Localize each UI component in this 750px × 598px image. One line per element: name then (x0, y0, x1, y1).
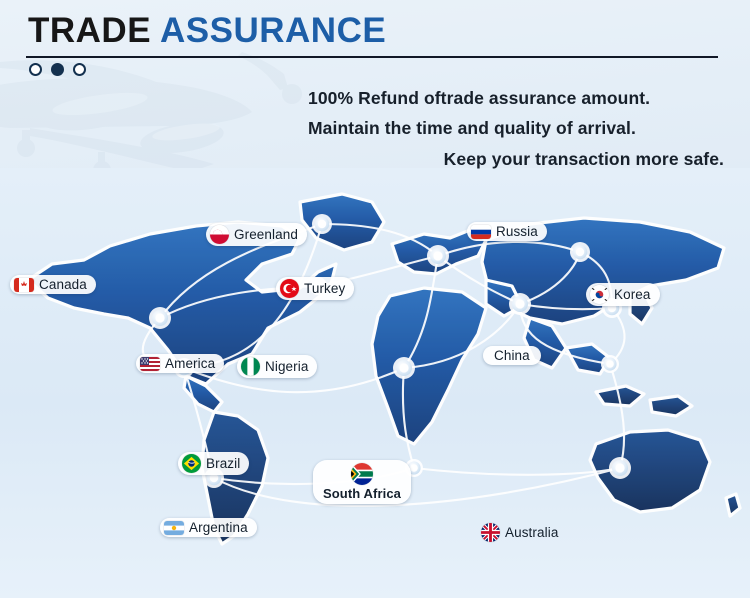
carousel-dot-2-active[interactable] (51, 63, 64, 76)
map-label-argentina-text: Argentina (189, 520, 248, 535)
map-label-america[interactable]: America (136, 354, 224, 373)
map-label-brazil[interactable]: Brazil (178, 452, 249, 475)
greenland-flag-icon (210, 225, 229, 244)
map-label-china[interactable]: China (483, 346, 541, 365)
australia-flag-icon (481, 523, 500, 542)
map-label-nigeria[interactable]: Nigeria (237, 355, 317, 378)
argentina-flag-icon (164, 521, 184, 535)
map-label-russia-text: Russia (496, 224, 538, 239)
south-africa-flag-icon (351, 463, 373, 485)
title-word-trade: TRADE (28, 11, 151, 50)
nigeria-flag-icon (241, 357, 260, 376)
map-label-south-africa[interactable]: South Africa (313, 460, 411, 504)
carousel-dot-1[interactable] (29, 63, 42, 76)
carousel-dots[interactable] (29, 63, 86, 76)
trade-assurance-banner: TRADE ASSURANCE 100% Refund oftrade assu… (0, 0, 750, 598)
russia-flag-icon (471, 225, 491, 239)
map-label-argentina[interactable]: Argentina (160, 518, 257, 537)
map-label-china-text: China (494, 348, 530, 363)
map-label-greenland[interactable]: Greenland (206, 223, 307, 246)
korea-flag-icon (590, 285, 609, 304)
map-label-greenland-text: Greenland (234, 227, 298, 242)
banner-header: TRADE ASSURANCE (0, 0, 750, 92)
map-label-australia-text: Australia (505, 525, 558, 540)
headline-line-3: Keep your transaction more safe. (306, 149, 726, 170)
map-label-canada[interactable]: Canada (10, 275, 96, 294)
usa-flag-icon (140, 357, 160, 371)
map-label-russia[interactable]: Russia (467, 222, 547, 241)
turkey-flag-icon (280, 279, 299, 298)
title-underline (26, 56, 718, 58)
map-label-america-text: America (165, 356, 215, 371)
headline-line-1: 100% Refund oftrade assurance amount. (306, 88, 726, 109)
map-label-australia[interactable]: Australia (477, 521, 567, 544)
brazil-flag-icon (182, 454, 201, 473)
carousel-dot-3[interactable] (73, 63, 86, 76)
map-label-south-africa-text: South Africa (323, 486, 401, 501)
headline-block: 100% Refund oftrade assurance amount. Ma… (306, 88, 726, 179)
map-label-brazil-text: Brazil (206, 456, 240, 471)
headline-line-2: Maintain the time and quality of arrival… (306, 118, 726, 139)
page-title: TRADE ASSURANCE (28, 13, 386, 48)
map-label-canada-text: Canada (39, 277, 87, 292)
map-label-nigeria-text: Nigeria (265, 359, 308, 374)
map-label-turkey-text: Turkey (304, 281, 345, 296)
map-label-turkey[interactable]: Turkey (276, 277, 354, 300)
title-word-assurance: ASSURANCE (160, 11, 386, 50)
canada-flag-icon (14, 278, 34, 292)
map-label-korea[interactable]: Korea (586, 283, 660, 306)
map-label-korea-text: Korea (614, 287, 651, 302)
